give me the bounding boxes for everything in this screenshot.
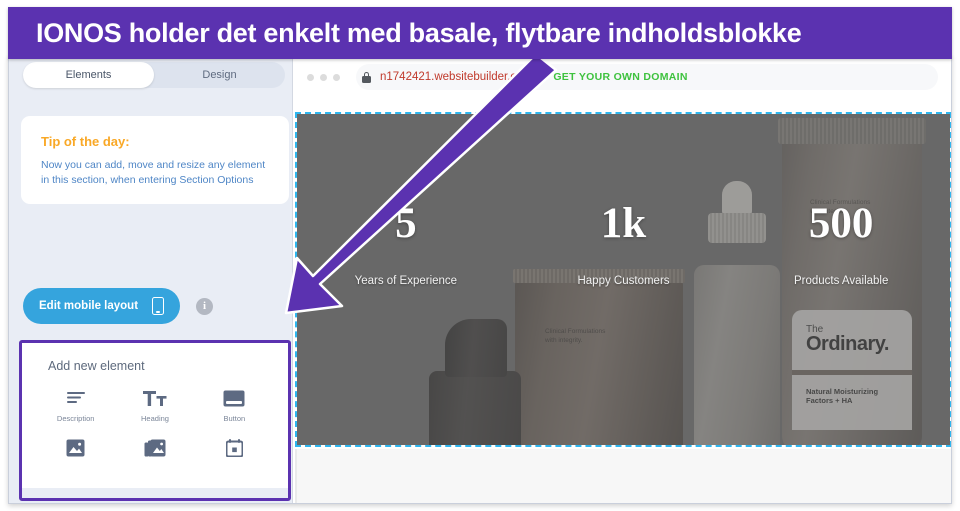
calendar-icon [221, 437, 247, 459]
address-bar[interactable]: n1742421.websitebuilder.online/ GET YOUR… [356, 64, 938, 90]
element-option-description[interactable]: Description [36, 387, 115, 423]
window-dot-close[interactable] [307, 74, 314, 81]
element-option-heading[interactable]: Heading [115, 387, 194, 423]
element-option-description-label: Description [57, 414, 95, 423]
stat-number-2: 1k [515, 202, 733, 245]
element-option-gallery[interactable] [115, 437, 194, 464]
stat-number-3: 500 [732, 202, 950, 245]
stat-label-3: Products Available [732, 275, 950, 287]
tip-body: Now you can add, move and resize any ele… [41, 158, 269, 188]
tab-elements[interactable]: Elements [23, 62, 154, 88]
tab-design[interactable]: Design [154, 62, 285, 88]
element-option-image[interactable] [36, 437, 115, 464]
stat-block-2[interactable]: 1k Happy Customers [515, 202, 733, 287]
preview-next-section [295, 449, 952, 504]
hero-section-selected[interactable]: The Ordinary. Natural Moisturizing Facto… [295, 112, 952, 447]
element-option-button-label: Button [223, 414, 245, 423]
stat-label-2: Happy Customers [515, 275, 733, 287]
heading-icon [142, 387, 168, 409]
edit-mobile-layout-button[interactable]: Edit mobile layout [23, 288, 180, 324]
element-option-calendar[interactable] [195, 437, 274, 464]
window-dot-minimize[interactable] [320, 74, 327, 81]
hero-stats-row: 5 Years of Experience 1k Happy Customers… [297, 202, 950, 287]
sidebar-tabs: Elements Design [23, 62, 285, 88]
screenshot-root: IONOS holder det enkelt med basale, flyt… [0, 0, 960, 511]
hero-section: The Ordinary. Natural Moisturizing Facto… [297, 114, 950, 445]
headline-banner-text: IONOS holder det enkelt med basale, flyt… [36, 18, 802, 49]
stat-label-1: Years of Experience [297, 275, 515, 287]
stat-block-1[interactable]: 5 Years of Experience [297, 202, 515, 287]
stat-number-1: 5 [297, 202, 515, 245]
website-builder-window: Elements Design Tip of the day: Now you … [8, 56, 952, 504]
button-icon [221, 387, 247, 409]
url-text: n1742421.websitebuilder.online/ [380, 71, 544, 83]
tip-title: Tip of the day: [41, 134, 269, 149]
lock-icon [362, 72, 371, 83]
image-icon [63, 437, 89, 459]
element-option-button[interactable]: Button [195, 387, 274, 423]
tip-of-the-day-card: Tip of the day: Now you can add, move an… [21, 116, 289, 204]
get-your-own-domain-link[interactable]: GET YOUR OWN DOMAIN [553, 71, 687, 83]
browser-url-bar: n1742421.websitebuilder.online/ GET YOUR… [293, 60, 952, 94]
window-controls [307, 74, 340, 81]
add-new-element-title: Add new element [48, 359, 288, 373]
phone-icon [152, 297, 164, 315]
window-dot-maximize[interactable] [333, 74, 340, 81]
edit-mobile-layout-label: Edit mobile layout [39, 300, 138, 312]
add-new-element-panel: Add new element Description [22, 343, 288, 488]
element-option-heading-label: Heading [141, 414, 169, 423]
site-preview-browser: n1742421.websitebuilder.online/ GET YOUR… [292, 56, 952, 504]
description-icon [63, 387, 89, 409]
gallery-icon [142, 437, 168, 459]
add-new-element-grid: Description Heading [22, 387, 288, 464]
mobile-layout-row: Edit mobile layout i [23, 288, 213, 324]
stat-block-3[interactable]: 500 Products Available [732, 202, 950, 287]
preview-top-gap [293, 94, 952, 112]
editor-sidebar: Elements Design Tip of the day: Now you … [9, 56, 292, 504]
headline-banner: IONOS holder det enkelt med basale, flyt… [8, 7, 952, 59]
info-icon[interactable]: i [196, 298, 213, 315]
